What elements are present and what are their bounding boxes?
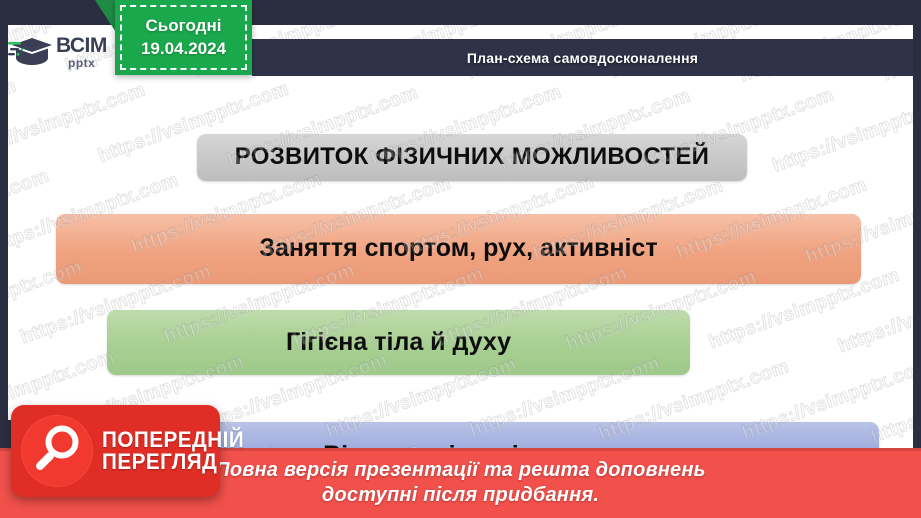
purchase-notice-line-2: доступні після придбання. <box>322 484 599 507</box>
flow-box-2[interactable]: Заняття спортом, рух, активніст <box>56 214 861 284</box>
purchase-notice-line-1: Повна версія презентації та решта доповн… <box>215 459 705 482</box>
flow-box-3[interactable]: Гігієна тіла й духу <box>107 310 690 375</box>
preview-badge[interactable]: ПОПЕРЕДНІЙ ПЕРЕГЛЯД <box>11 405 220 497</box>
today-label: Сьогодні <box>146 16 222 36</box>
brand-sub: pptx <box>68 57 107 69</box>
flow-box-2-label: Заняття спортом, рух, активніст <box>245 235 671 263</box>
flow-box-1[interactable]: РОЗВИТОК ФІЗИЧНИХ МОЖЛИВОСТЕЙ <box>197 134 747 181</box>
page-title: План-схема самовдосконалення <box>467 50 698 66</box>
preview-badge-text: ПОПЕРЕДНІЙ ПЕРЕГЛЯД <box>102 429 253 474</box>
brand-wordmark: ВСІМ pptx <box>56 35 107 69</box>
magnifier-icon <box>21 415 93 487</box>
flow-box-1-label: РОЗВИТОК ФІЗИЧНИХ МОЖЛИВОСТЕЙ <box>221 144 723 170</box>
brand-name: ВСІМ <box>56 35 107 56</box>
flow-box-3-label: Гігієна тіла й духу <box>272 329 525 357</box>
app-window: РОЗВИТОК ФІЗИЧНИХ МОЖЛИВОСТЕЙ Заняття сп… <box>0 0 921 518</box>
preview-badge-line-2: ПЕРЕГЛЯД <box>102 451 244 473</box>
graduation-cap-icon <box>8 32 54 72</box>
brand-logo[interactable]: ВСІМ pptx <box>8 28 130 76</box>
preview-badge-line-1: ПОПЕРЕДНІЙ <box>102 429 244 451</box>
today-date-badge: Сьогодні 19.04.2024 <box>115 0 252 75</box>
today-date: 19.04.2024 <box>141 39 226 59</box>
slide-title-bar: План-схема самовдосконалення <box>252 39 913 76</box>
